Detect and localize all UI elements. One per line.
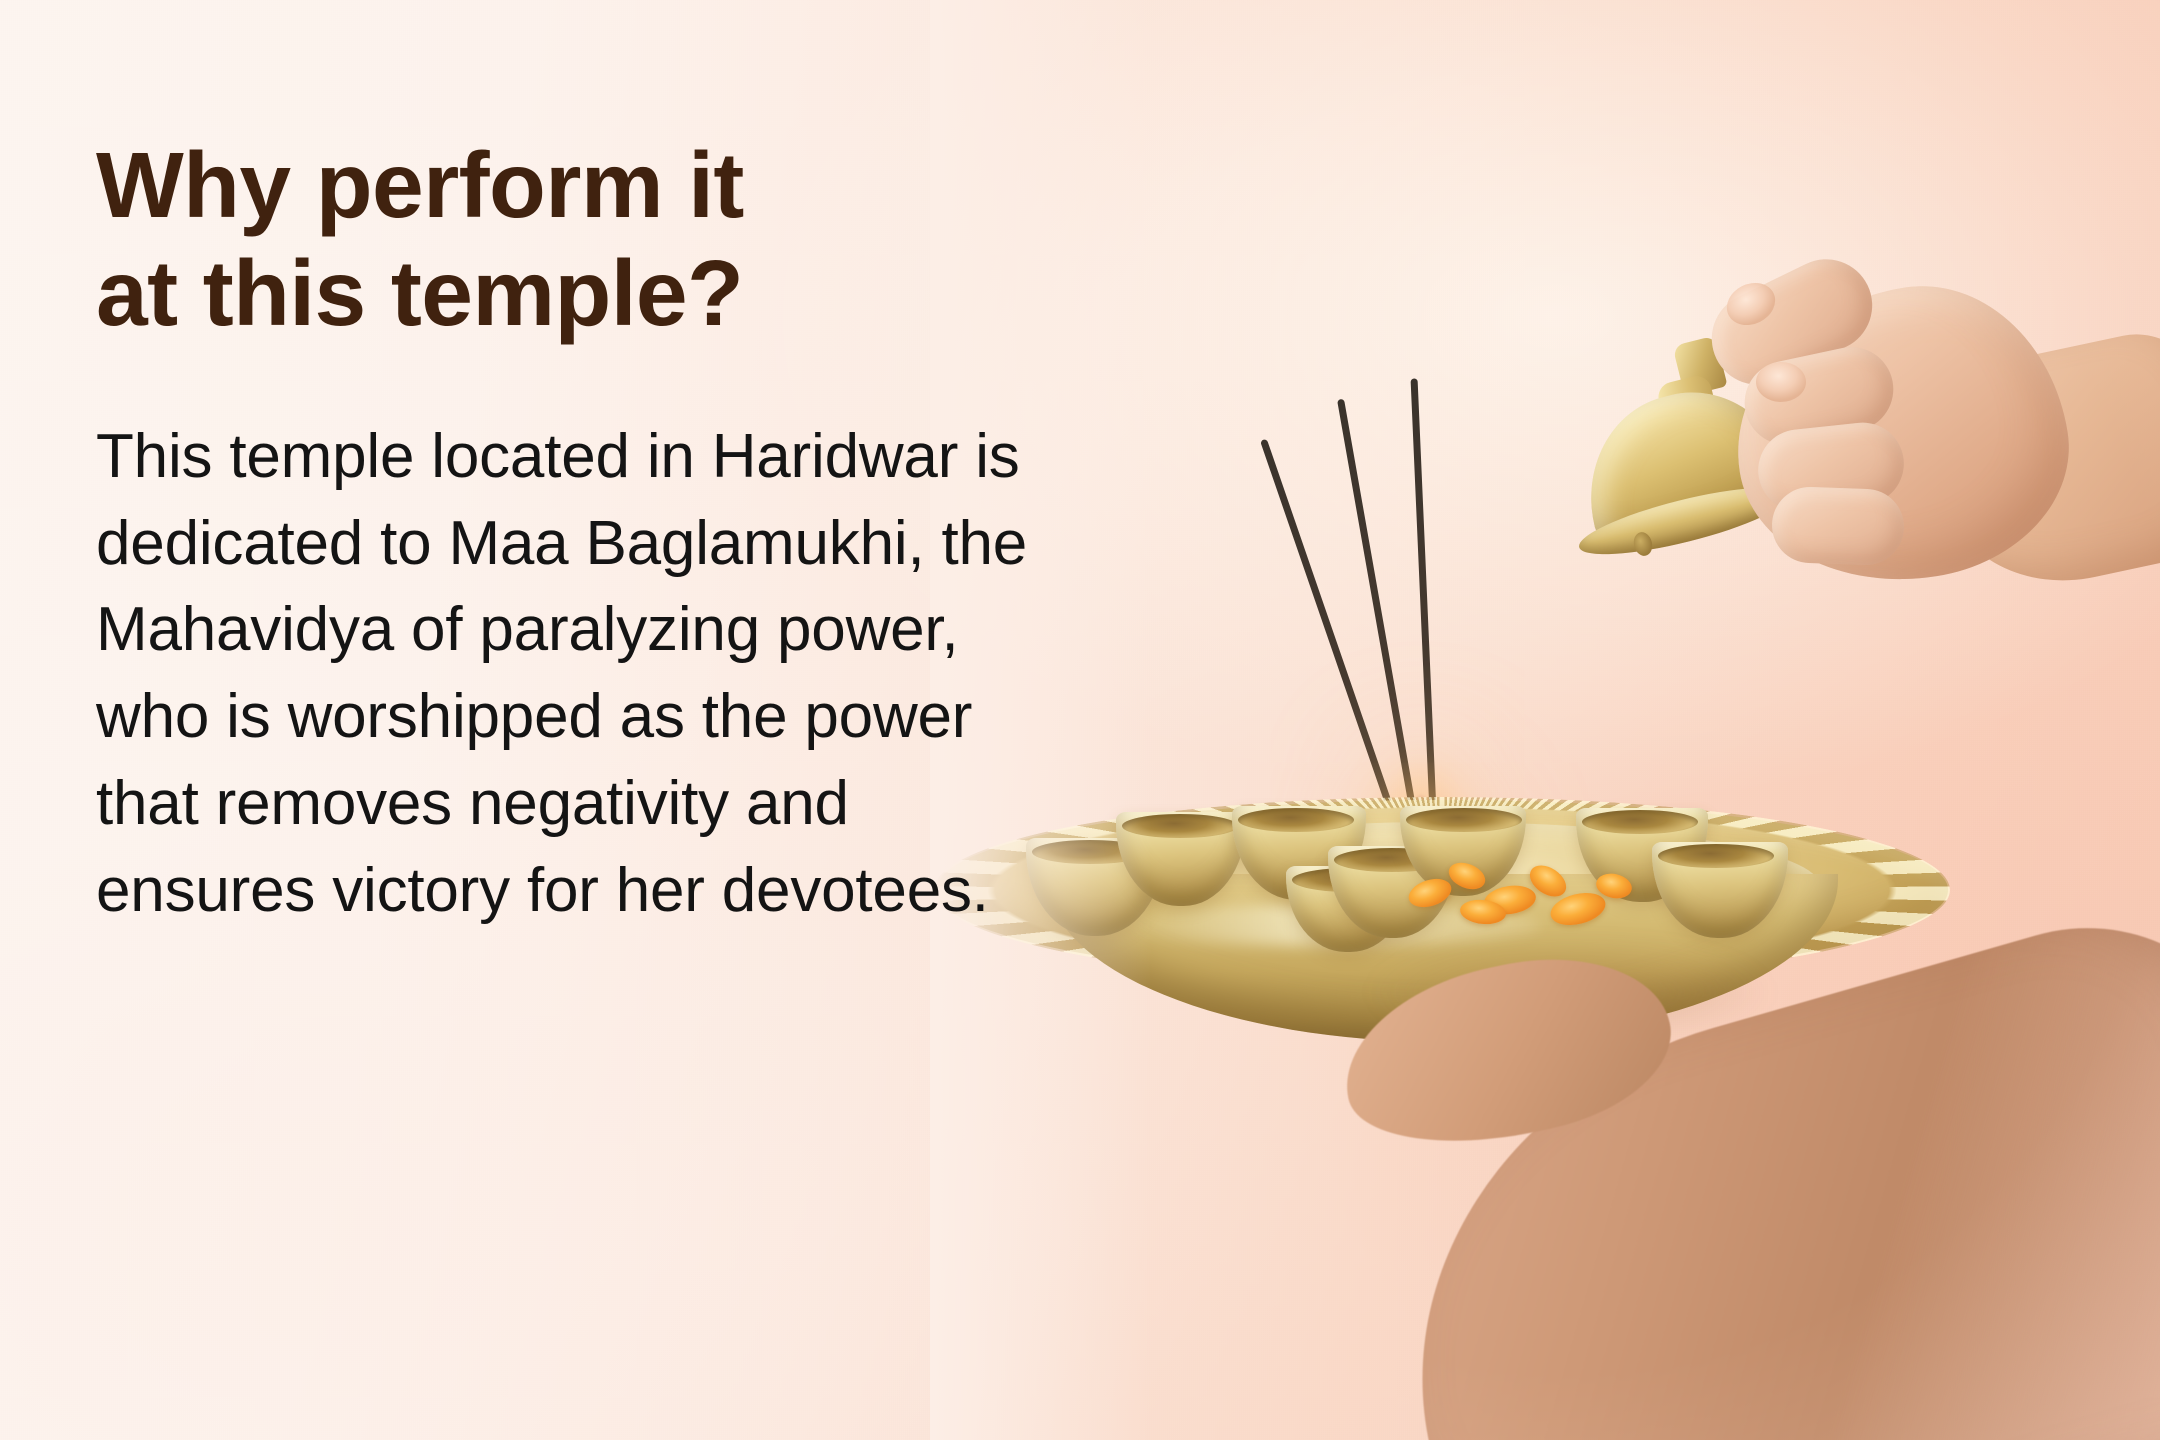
- slide-canvas: Why perform it at this temple? This temp…: [0, 0, 2160, 1440]
- petal-icon: [1405, 874, 1455, 912]
- page-title: Why perform it at this temple?: [96, 132, 1076, 348]
- fingernail: [1756, 362, 1806, 402]
- marigold-petals: [1400, 856, 1650, 942]
- body-paragraph: This temple located in Haridwar is dedic…: [96, 348, 1076, 935]
- text-column: Why perform it at this temple? This temp…: [96, 132, 1076, 935]
- ring-finger: [1771, 486, 1906, 567]
- puja-photo: [930, 0, 2160, 1440]
- hand-holding-bell: [1490, 250, 2160, 770]
